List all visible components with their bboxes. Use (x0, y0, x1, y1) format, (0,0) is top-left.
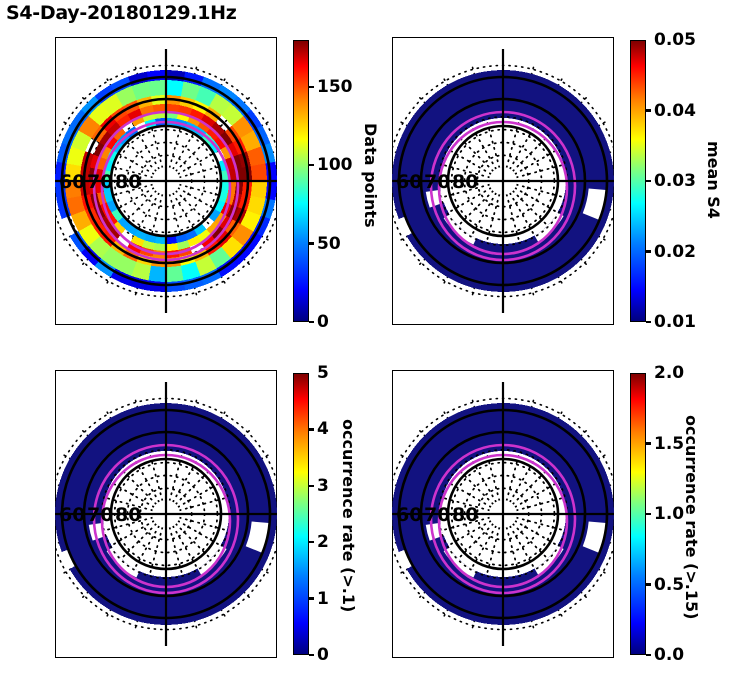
colorbar-data-points[interactable]: 0 50 100 150 Data points (293, 40, 309, 322)
colorbar-tick-label: 2.0 (654, 363, 684, 383)
colorbar-tick-label: 1.5 (654, 434, 684, 454)
radial-tick-label: 70 (87, 171, 113, 193)
colorbar-tick: 0.04 (646, 101, 696, 121)
colorbar-tick: 0.5 (646, 575, 684, 595)
colorbar-tick-label: 100 (317, 155, 353, 175)
colorbar-tick-label: 3 (317, 476, 329, 496)
colorbar-axis-label: mean S4 (704, 120, 723, 240)
colorbar-tick: 4 (309, 419, 329, 439)
colorbar-tick-label: 0.03 (654, 171, 696, 191)
colorbar-tick-label: 0 (317, 645, 329, 665)
radial-tick-label: 60 (59, 504, 85, 526)
radial-tick-label: 80 (452, 171, 478, 193)
colorbar-tick: 0.03 (646, 171, 696, 191)
colorbar-tick: 0 (309, 312, 329, 332)
colorbar-tick: 3 (309, 476, 329, 496)
colorbar-gradient (293, 40, 309, 322)
polar-plot-data-points: 607080 (55, 37, 277, 325)
colorbar-tick-label: 50 (317, 234, 341, 254)
colorbar-tick: 1 (309, 589, 329, 609)
colorbar-gradient (293, 373, 309, 655)
colorbar-tick-label: 0.5 (654, 575, 684, 595)
polar-plot-occurrence-rate-01: 607080 (55, 370, 277, 658)
colorbar-tick-label: 2 (317, 532, 329, 552)
colorbar-occurrence-rate-01[interactable]: 0 1 2 3 4 5 occurrence rate (>.1) (293, 373, 309, 655)
colorbar-tick: 0.01 (646, 312, 696, 332)
panel-data-points[interactable]: 607080 (55, 37, 277, 325)
page-title: S4-Day-20180129.1Hz (6, 2, 237, 24)
colorbar-tick: 150 (309, 77, 353, 97)
colorbar-axis-label: Data points (361, 60, 380, 290)
colorbar-tick: 100 (309, 155, 353, 175)
colorbar-mean-s4[interactable]: 0.01 0.02 0.03 0.04 0.05 mean S4 (630, 40, 646, 322)
colorbar-tick-label: 0.01 (654, 312, 696, 332)
colorbar-tick-label: 0.05 (654, 30, 696, 50)
panel-mean-s4[interactable]: 607080 (392, 37, 614, 325)
colorbar-tick-label: 0.0 (654, 645, 684, 665)
colorbar-tick-label: 0.02 (654, 242, 696, 262)
colorbar-tick: 2 (309, 532, 329, 552)
colorbar-tick: 0.05 (646, 30, 696, 50)
radial-tick-label: 80 (115, 171, 141, 193)
colorbar-gradient (630, 40, 646, 322)
figure-canvas: S4-Day-20180129.1Hz 607080 0 50 100 150 … (0, 0, 731, 674)
radial-tick-label: 80 (452, 504, 478, 526)
panel-occurrence-rate-015[interactable]: 607080 (392, 370, 614, 658)
colorbar-ticks: 0.01 0.02 0.03 0.04 0.05 (646, 40, 708, 322)
colorbar-tick-label: 150 (317, 77, 353, 97)
colorbar-tick: 50 (309, 234, 341, 254)
colorbar-axis-label: occurrence rate (>.15) (682, 381, 701, 653)
colorbar-tick: 5 (309, 363, 329, 383)
polar-plot-occurrence-rate-015: 607080 (392, 370, 614, 658)
colorbar-gradient (630, 373, 646, 655)
colorbar-tick: 2.0 (646, 363, 684, 383)
radial-tick-label: 70 (87, 504, 113, 526)
panel-occurrence-rate-01[interactable]: 607080 (55, 370, 277, 658)
colorbar-tick-label: 4 (317, 419, 329, 439)
colorbar-tick-label: 0.04 (654, 101, 696, 121)
colorbar-tick: 1.5 (646, 434, 684, 454)
radial-tick-label: 60 (396, 504, 422, 526)
radial-tick-label: 70 (424, 504, 450, 526)
colorbar-tick-label: 5 (317, 363, 329, 383)
radial-tick-label: 70 (424, 171, 450, 193)
colorbar-tick: 0.0 (646, 645, 684, 665)
colorbar-tick: 0 (309, 645, 329, 665)
colorbar-occurrence-rate-015[interactable]: 0.0 0.5 1.0 1.5 2.0 occurrence rate (>.1… (630, 373, 646, 655)
colorbar-axis-label: occurrence rate (>.1) (339, 381, 358, 651)
colorbar-tick: 1.0 (646, 504, 684, 524)
colorbar-tick-label: 0 (317, 312, 329, 332)
colorbar-tick-label: 1.0 (654, 504, 684, 524)
radial-tick-label: 60 (396, 171, 422, 193)
radial-tick-label: 80 (115, 504, 141, 526)
colorbar-tick-label: 1 (317, 589, 329, 609)
colorbar-tick: 0.02 (646, 242, 696, 262)
radial-tick-label: 60 (59, 171, 85, 193)
polar-plot-mean-s4: 607080 (392, 37, 614, 325)
